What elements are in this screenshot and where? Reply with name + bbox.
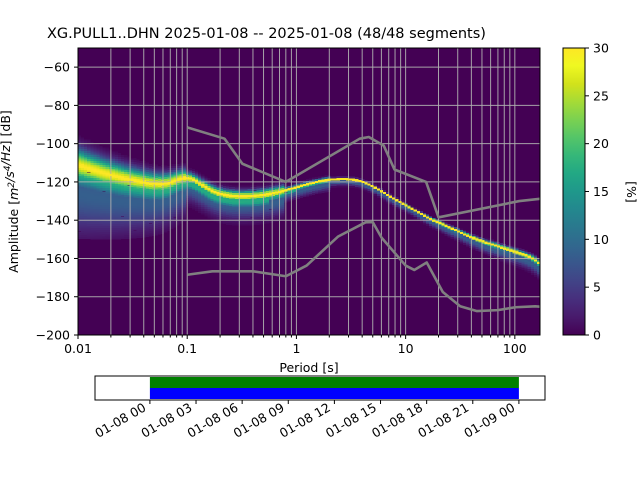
y-tick-label: −140 xyxy=(36,213,70,228)
x-tick-label: 100 xyxy=(503,341,527,356)
timeline-segments xyxy=(150,377,519,399)
x-tick-label: 10 xyxy=(398,341,414,356)
y-tick-label: −180 xyxy=(36,289,70,304)
x-tick-label: 1 xyxy=(292,341,300,356)
data-coverage xyxy=(150,388,519,399)
y-tick-label: −120 xyxy=(36,174,70,189)
colorbar-tick-label: 15 xyxy=(593,184,609,199)
y-tick-label: −160 xyxy=(36,251,70,266)
colorbar-label: [%] xyxy=(624,181,639,203)
colorbar-gradient xyxy=(563,48,585,335)
colorbar-tick-label: 25 xyxy=(593,88,609,103)
psd-coverage xyxy=(150,377,519,388)
y-tick-label: −80 xyxy=(44,98,70,113)
x-tick-label: 0.01 xyxy=(64,341,92,356)
colorbar-tick-label: 5 xyxy=(593,280,601,295)
ppsd-figure: XG.PULL1..DHN 2025-01-08 -- 2025-01-08 (… xyxy=(0,0,640,480)
y-tick-label: −200 xyxy=(36,328,70,343)
colorbar-tick-label: 0 xyxy=(593,328,601,343)
y-tick-label: −100 xyxy=(36,136,70,151)
y-tick-label: −60 xyxy=(44,60,70,75)
colorbar-tick-label: 20 xyxy=(593,136,609,151)
x-axis-label: Period [s] xyxy=(279,360,338,375)
colorbar-tick-label: 30 xyxy=(593,41,609,56)
ppsd-plot-canvas: XG.PULL1..DHN 2025-01-08 -- 2025-01-08 (… xyxy=(0,0,640,480)
colorbar-tick-label: 10 xyxy=(593,232,609,247)
x-tick-label: 0.1 xyxy=(177,341,197,356)
page-title: XG.PULL1..DHN 2025-01-08 -- 2025-01-08 (… xyxy=(47,26,486,42)
